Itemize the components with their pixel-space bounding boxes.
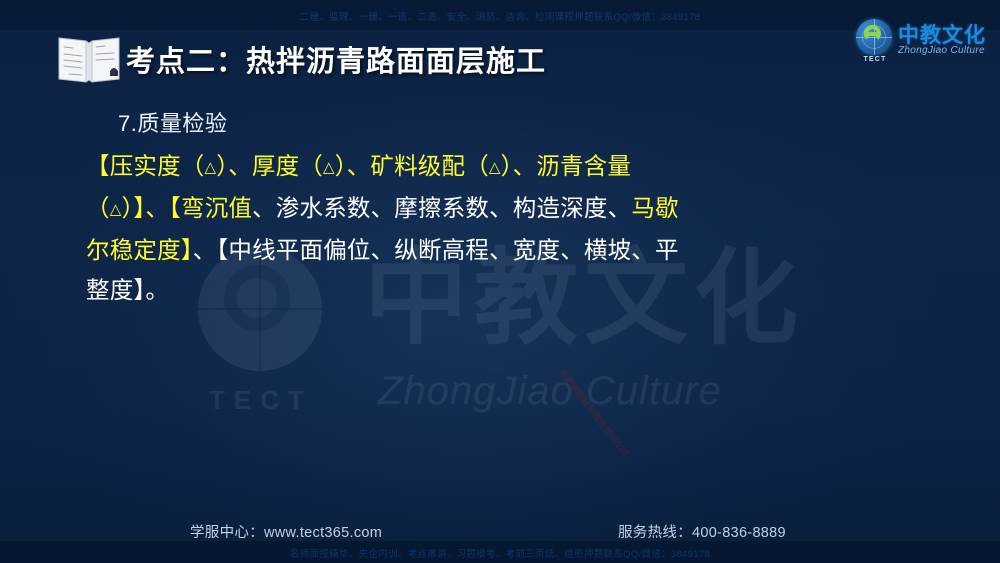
content-line: 尔稳定度】、【中线平面偏位、纵断高程、宽度、横坡、平: [86, 230, 726, 270]
content-line: （△）】、【弯沉值、渗水系数、摩擦系数、构造深度、马歇: [86, 188, 726, 230]
content-subheading: 7.质量检验: [118, 106, 227, 138]
content-line: 整度】。: [86, 270, 726, 310]
page-title: 考点二：热拌沥青路面面层施工: [126, 38, 546, 80]
open-book-icon: [56, 33, 122, 85]
logo-brand-en: ZhongJiao Culture: [898, 45, 985, 56]
footer-hotline: 服务热线：400-836-8889: [618, 521, 786, 542]
bottom-banner-text: 名师面授精华、央企内训、考点串讲、习题模考、考前三页纸、绝密押题联系QQ/微信：…: [0, 546, 1000, 560]
content-segment: △: [110, 201, 122, 218]
globe-icon: [856, 19, 892, 55]
content-segment: ）】、【弯沉值: [121, 195, 252, 221]
globe-e-bar: [864, 32, 879, 36]
top-banner-text: 二建、监理、一建、一造、二造、安全、消防、咨询、检测课程押题联系QQ/微信：38…: [0, 9, 1000, 23]
logo-tect-text: TECT: [858, 56, 892, 63]
content-segment: 马歇: [631, 195, 678, 221]
content-segment: △: [489, 159, 501, 176]
content-line: 【压实度（△）、厚度（△）、矿料级配（△）、沥青含量: [86, 146, 726, 188]
content-segment: △: [205, 159, 217, 176]
content-segment: ）、矿料级配（: [335, 153, 489, 179]
content-segment: 、【中线平面偏位、纵断高程、宽度、横坡、平: [193, 237, 679, 263]
content-body: 【压实度（△）、厚度（△）、矿料级配（△）、沥青含量 （△）】、【弯沉值、渗水系…: [86, 146, 726, 310]
content-segment: 尔稳定度】: [86, 237, 193, 263]
content-segment: （: [86, 195, 110, 221]
content-segment: ）、沥青含量: [501, 153, 631, 179]
content-segment: △: [323, 159, 335, 176]
slide-root: TECT 中教文化 ZhongJiao Culture 绝密押题联系微信3849…: [0, 0, 1000, 563]
content-segment: 整度】。: [86, 277, 169, 303]
bottom-banner: 名师面授精华、央企内训、考点串讲、习题模考、考前三页纸、绝密押题联系QQ/微信：…: [0, 541, 1000, 563]
content-segment: 【压实度（: [86, 153, 205, 179]
footer-service-center: 学服中心：www.tect365.com: [190, 521, 382, 542]
content-segment: 、渗水系数、摩擦系数、构造深度、: [252, 195, 631, 221]
content-segment: ）、厚度（: [216, 153, 323, 179]
top-banner: 二建、监理、一建、一造、二造、安全、消防、咨询、检测课程押题联系QQ/微信：38…: [0, 0, 1000, 30]
brand-logo: TECT 中教文化 ZhongJiao Culture: [856, 17, 988, 67]
